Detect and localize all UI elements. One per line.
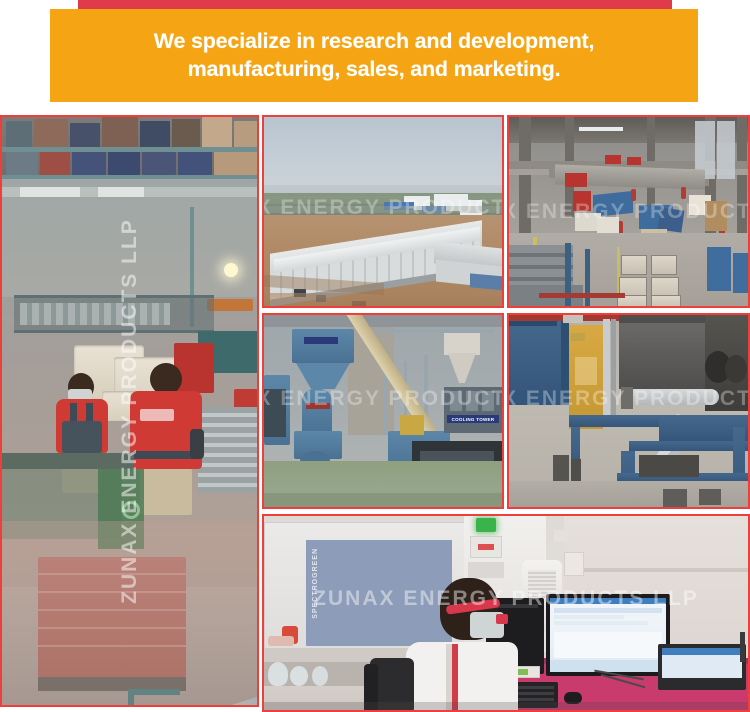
gallery-image-lab-computer[interactable]: SPECTROGREEN bbox=[262, 514, 750, 712]
gallery-image-blue-machinery[interactable]: COOLING TOWER WATER TANK ZUNAX ENERGY PR… bbox=[262, 313, 504, 509]
instrument-brand-label: SPECTROGREEN bbox=[312, 548, 319, 619]
photo-workshop-workers: ZUNAX ENERGY PRODUCTS LLP bbox=[2, 117, 257, 705]
page-root: We specialize in research and developmen… bbox=[0, 0, 750, 712]
status-indicator-green bbox=[476, 518, 496, 532]
gallery-image-plant-overhead[interactable]: ZUNAX ENERGY PRODUCTS LLP bbox=[507, 115, 750, 308]
machine-label-cooling-tower: COOLING TOWER bbox=[447, 415, 499, 423]
photo-rolling-machine: ZUNAX ENERGY PRODUCTS LLP bbox=[509, 315, 748, 507]
gallery-image-rolling-machine[interactable]: ZUNAX ENERGY PRODUCTS LLP bbox=[507, 313, 750, 509]
photo-plant-overhead: ZUNAX ENERGY PRODUCTS LLP bbox=[509, 117, 748, 306]
header-banner: We specialize in research and developmen… bbox=[0, 0, 750, 115]
banner-body: We specialize in research and developmen… bbox=[50, 9, 698, 102]
photo-blue-machinery: COOLING TOWER WATER TANK ZUNAX ENERGY PR… bbox=[264, 315, 502, 507]
person-body bbox=[406, 642, 518, 710]
instrument-panel: SPECTROGREEN bbox=[306, 540, 452, 646]
banner-accent-bar bbox=[78, 0, 672, 9]
gallery-image-workshop-workers[interactable]: ZUNAX ENERGY PRODUCTS LLP bbox=[0, 115, 259, 707]
photo-lab-computer: SPECTROGREEN bbox=[264, 516, 748, 710]
banner-headline-line2: manufacturing, sales, and marketing. bbox=[188, 57, 561, 81]
photo-aerial-facility: ZUNAX ENERGY PRODUCTS LLP bbox=[264, 117, 502, 306]
image-gallery-grid: ZUNAX ENERGY PRODUCTS LLP bbox=[0, 115, 750, 712]
gallery-image-aerial-facility[interactable]: ZUNAX ENERGY PRODUCTS LLP bbox=[262, 115, 504, 308]
banner-headline: We specialize in research and developmen… bbox=[126, 28, 623, 83]
banner-headline-line1: We specialize in research and developmen… bbox=[154, 29, 595, 53]
